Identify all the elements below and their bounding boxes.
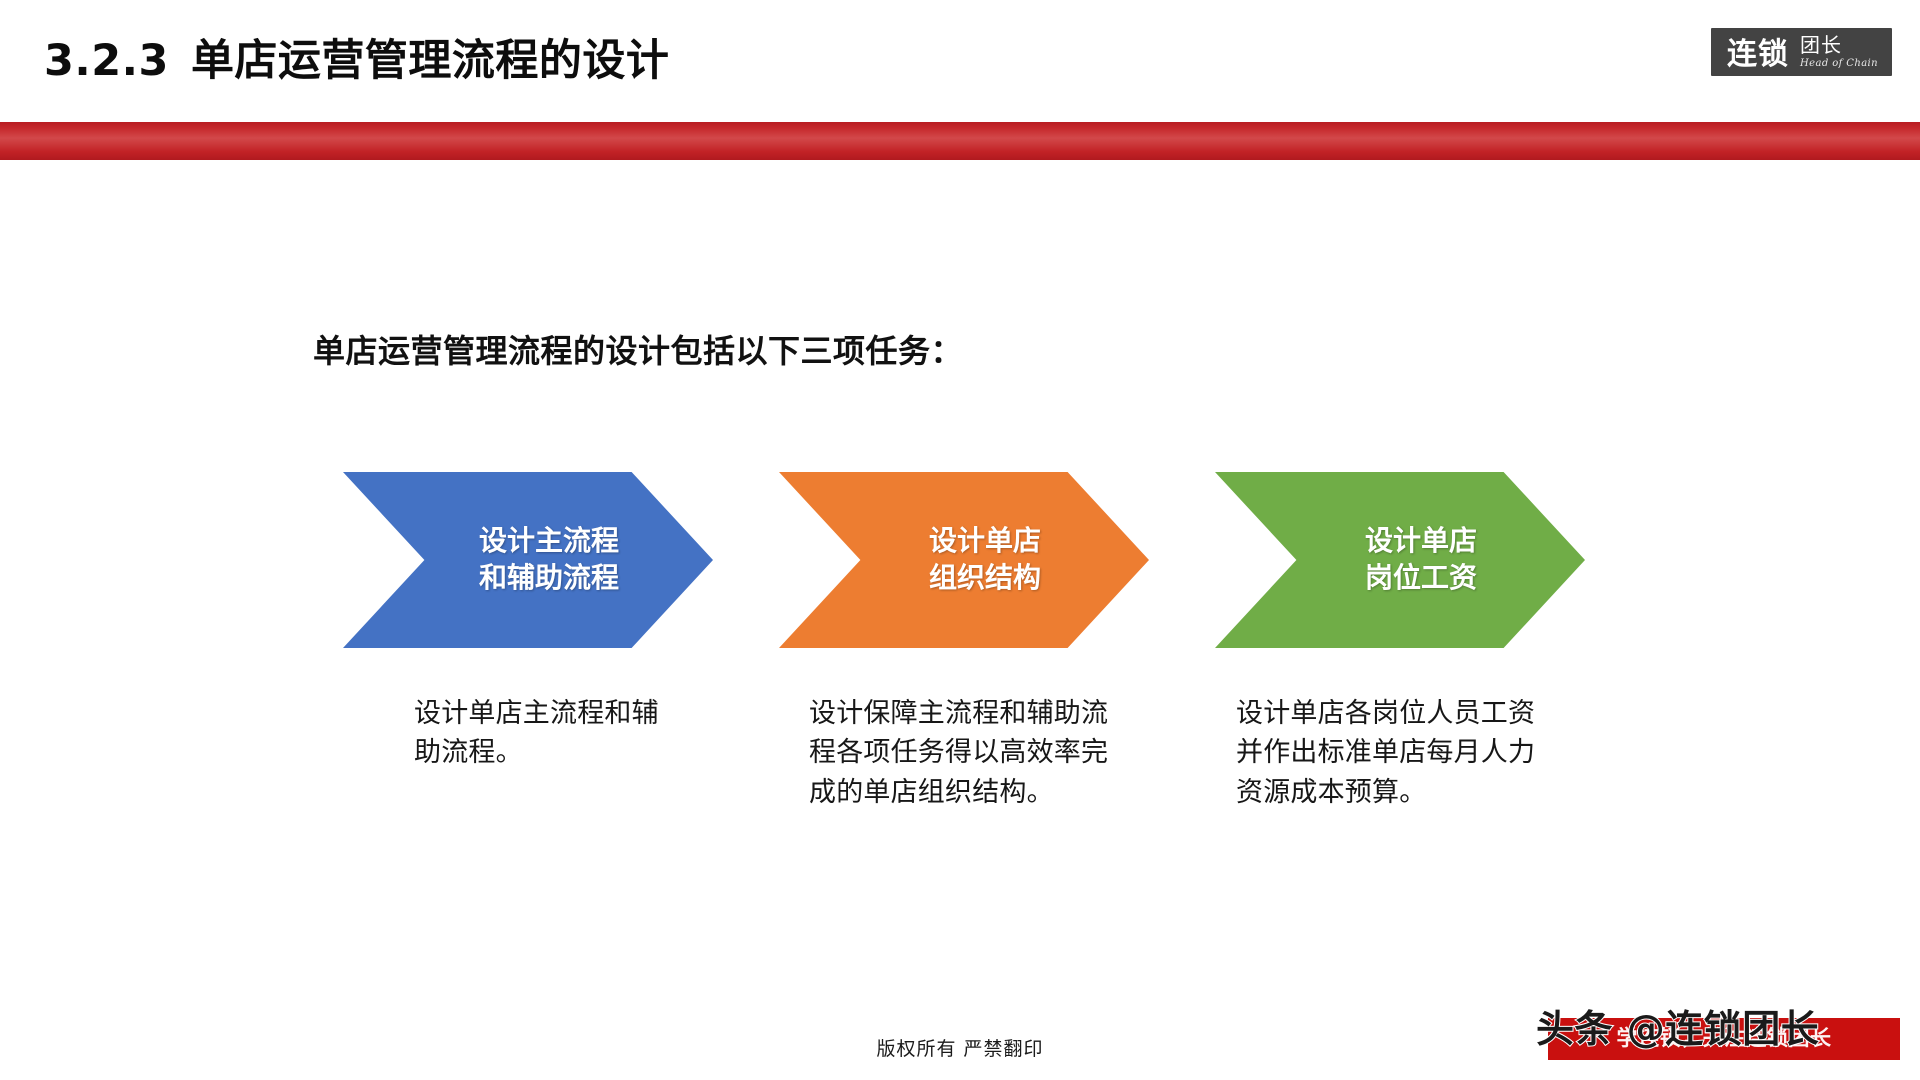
brand-logo-side: 团长 Head of Chain bbox=[1800, 35, 1878, 70]
slide-header: 3.2.3单店运营管理流程的设计 连锁 团长 Head of Chain bbox=[0, 0, 1920, 122]
brand-logo: 连锁 团长 Head of Chain bbox=[1711, 28, 1892, 76]
process-step-3-description: 设计单店各岗位人员工资并作出标准单店每月人力资源成本预算。 bbox=[1236, 694, 1541, 812]
process-step-1-label-line1: 设计主流程 bbox=[479, 523, 619, 560]
watermark-channel-text: 头条 @连锁团长 bbox=[1536, 998, 1819, 1053]
process-step-3-label-line1: 设计单店 bbox=[1365, 523, 1477, 560]
brand-logo-sub: 团长 bbox=[1800, 35, 1842, 56]
process-step-1-label-line2: 和辅助流程 bbox=[479, 560, 619, 597]
process-step-3-chevron[interactable]: 设计单店 岗位工资 bbox=[1215, 472, 1585, 648]
header-divider-bar bbox=[0, 122, 1920, 160]
watermark: 学连锁，关注连锁团长 头条 @连锁团长 bbox=[1530, 992, 1920, 1066]
brand-logo-english: Head of Chain bbox=[1800, 59, 1878, 69]
process-step-1-chevron[interactable]: 设计主流程 和辅助流程 bbox=[343, 472, 713, 648]
process-step-3-label: 设计单店 岗位工资 bbox=[1365, 523, 1477, 597]
page-title-number: 3.2.3 bbox=[44, 36, 169, 86]
process-step-2-label-line1: 设计单店 bbox=[929, 523, 1041, 560]
process-step-1-label: 设计主流程 和辅助流程 bbox=[479, 523, 619, 597]
process-chevron-row: 设计主流程 和辅助流程 设计单店 组织结构 设计单店 岗位工资 bbox=[0, 472, 1920, 650]
section-headline: 单店运营管理流程的设计包括以下三项任务： bbox=[313, 326, 963, 372]
process-step-2-description: 设计保障主流程和辅助流程各项任务得以高效率完成的单店组织结构。 bbox=[809, 694, 1119, 812]
brand-logo-main: 连锁 bbox=[1727, 40, 1789, 70]
page-title: 3.2.3单店运营管理流程的设计 bbox=[44, 26, 669, 88]
page-title-text: 单店运营管理流程的设计 bbox=[191, 36, 670, 86]
slide-root: 3.2.3单店运营管理流程的设计 连锁 团长 Head of Chain 单店运… bbox=[0, 0, 1920, 1080]
process-step-2-label-line2: 组织结构 bbox=[929, 560, 1041, 597]
process-step-2-label: 设计单店 组织结构 bbox=[929, 523, 1041, 597]
process-step-3-label-line2: 岗位工资 bbox=[1365, 560, 1477, 597]
process-step-1-description: 设计单店主流程和辅助流程。 bbox=[414, 694, 664, 773]
process-step-2-chevron[interactable]: 设计单店 组织结构 bbox=[779, 472, 1149, 648]
